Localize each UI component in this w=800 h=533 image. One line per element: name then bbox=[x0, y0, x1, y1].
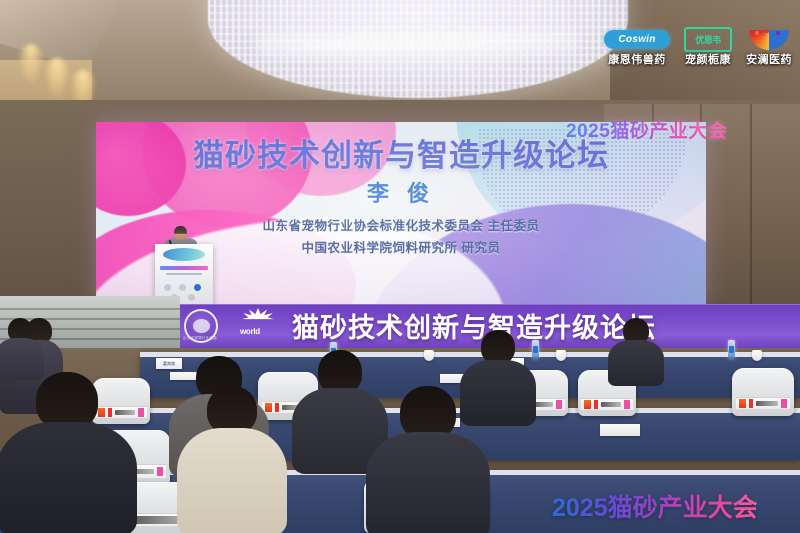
sponsor-label: 宠颜栀康 bbox=[685, 51, 731, 67]
fan-icon bbox=[747, 29, 791, 50]
podium-subtitle-band bbox=[166, 273, 202, 275]
chair-brand-panel bbox=[736, 397, 791, 409]
audience-member bbox=[612, 318, 660, 382]
water-bottle bbox=[532, 340, 539, 359]
conference-wordmark: 2025猫砂产业大会 bbox=[566, 116, 727, 143]
watermark: 2025猫砂产业大会 bbox=[552, 488, 758, 524]
podium-title-band bbox=[160, 266, 208, 270]
sponsor-label: 康恩伟兽药 bbox=[608, 51, 666, 67]
association-emblem-caption: 山东省宠物行业协会 bbox=[176, 336, 224, 341]
paper-cup bbox=[752, 350, 762, 361]
coswin-pill-logo: Coswin bbox=[604, 30, 670, 49]
water-bottle bbox=[728, 340, 735, 359]
sponsor-coswin: Coswin 康恩伟兽药 bbox=[604, 30, 670, 67]
anlan-fan-logo bbox=[747, 30, 791, 49]
youenwei-bracket-logo: 优恩韦 bbox=[684, 30, 732, 49]
chair-brand-panel bbox=[581, 398, 632, 410]
speaker-head bbox=[174, 226, 187, 240]
audience-member bbox=[466, 330, 530, 422]
downlight-icon bbox=[18, 44, 44, 84]
paper-cup bbox=[424, 350, 434, 361]
sponsor-logo-bar: Coswin 康恩伟兽药 优恩韦 宠颜栀康 安澜医药 bbox=[604, 30, 792, 67]
world-star-wordmark: world bbox=[240, 327, 260, 336]
sponsor-youenwei: 优恩韦 宠颜栀康 bbox=[684, 30, 732, 67]
conference-photo: Coswin 康恩伟兽药 优恩韦 宠颜栀康 安澜医药 bbox=[0, 0, 800, 533]
document-sheet bbox=[600, 424, 640, 436]
audience-member bbox=[8, 372, 126, 533]
coswin-wordmark: Coswin bbox=[604, 30, 670, 49]
speaker-name: 李 俊 bbox=[96, 176, 706, 208]
audience-member bbox=[0, 318, 40, 378]
world-star-logo: world bbox=[236, 308, 280, 338]
audience-member bbox=[300, 350, 380, 470]
audience-member bbox=[186, 386, 278, 533]
downlight-icon bbox=[44, 58, 70, 98]
audience-chair bbox=[732, 368, 794, 416]
speaker-affiliation-1: 山东省宠物行业协会标准化技术委员会 主任委员 bbox=[96, 215, 706, 234]
paper-cup bbox=[556, 350, 566, 361]
sponsor-anlan: 安澜医药 bbox=[746, 30, 792, 67]
youenwei-wordmark: 优恩韦 bbox=[684, 27, 732, 52]
sponsor-label: 安澜医药 bbox=[746, 51, 792, 67]
podium-logo bbox=[163, 248, 205, 261]
